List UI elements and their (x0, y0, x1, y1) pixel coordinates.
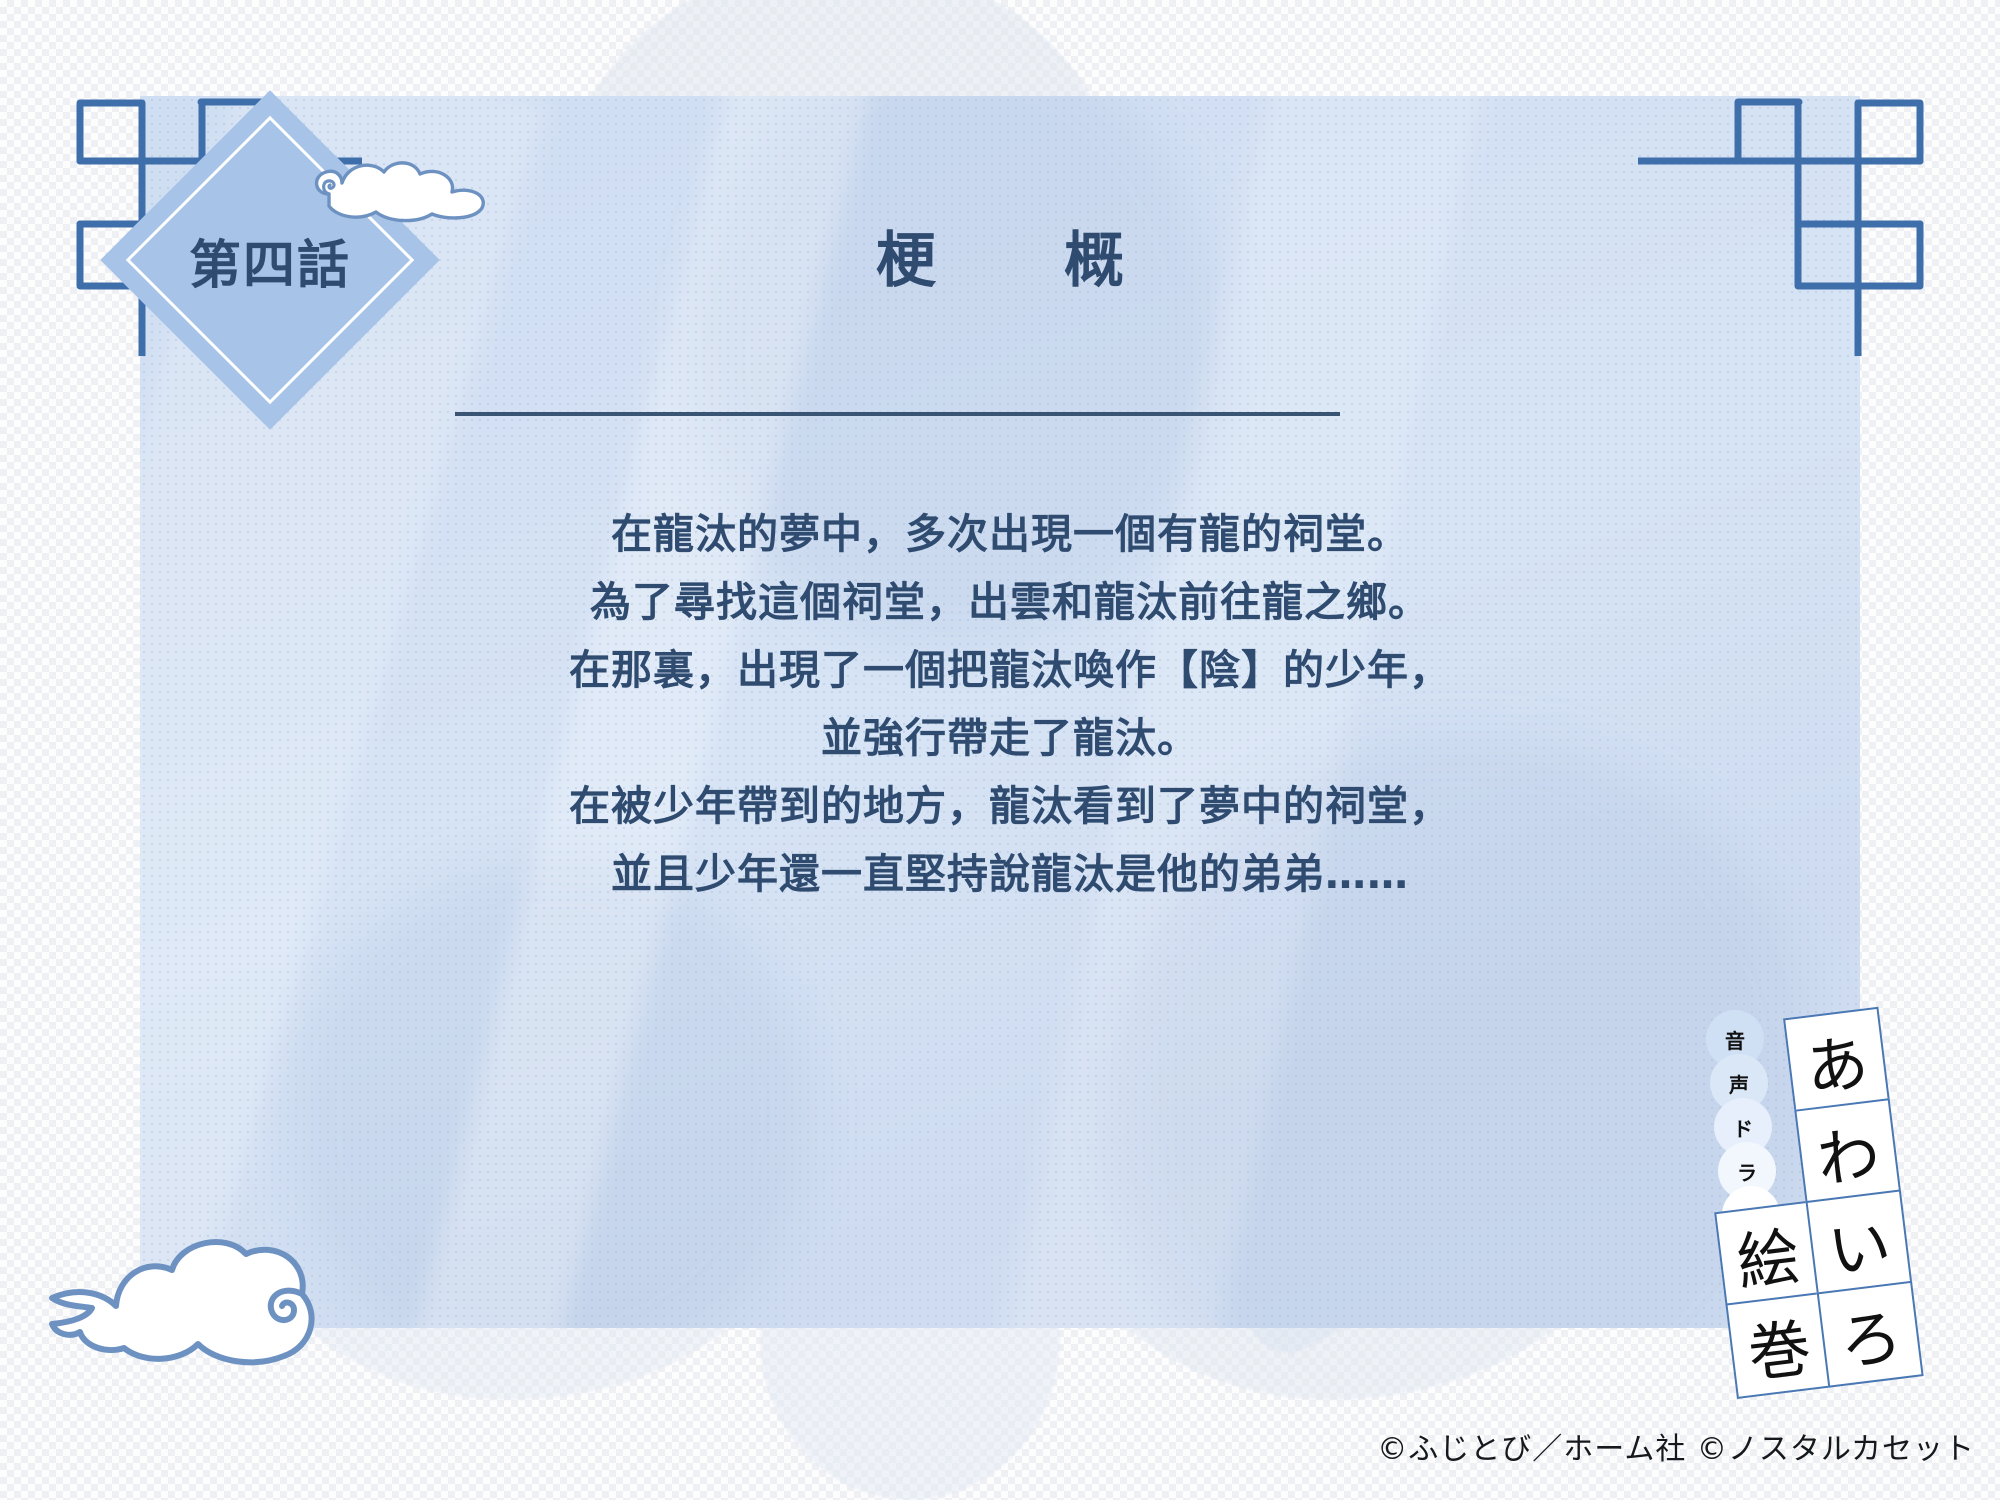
logo-title-cell: 巻 (1725, 1292, 1832, 1399)
synopsis-line: 並且少年還一直堅持說龍汰是他的弟弟…… (300, 840, 1720, 908)
synopsis-line: 在被少年帶到的地方，龍汰看到了夢中的祠堂， (300, 772, 1720, 840)
slide-canvas: 第四話 梗 概 在龍汰的夢中，多次出現一個有龍的祠堂。 為了尋找這個祠堂，出雲和… (0, 0, 2000, 1500)
synopsis-line: 為了尋找這個祠堂，出雲和龍汰前往龍之鄉。 (300, 568, 1720, 636)
title-divider (455, 412, 1340, 416)
program-logo: 音 声 ド ラ マ あ わ 絵 い 巻 ろ (1700, 1010, 1920, 1340)
logo-title-cell: 絵 (1714, 1201, 1821, 1308)
logo-title-grid: あ わ 絵 い 巻 ろ (1694, 1058, 1935, 1352)
logo-title-cell: ろ (1817, 1281, 1924, 1388)
synopsis-text: 在龍汰的夢中，多次出現一個有龍的祠堂。 為了尋找這個祠堂，出雲和龍汰前往龍之鄉。… (300, 500, 1720, 908)
synopsis-line: 在龍汰的夢中，多次出現一個有龍的祠堂。 (300, 500, 1720, 568)
cloud-bottom-icon (40, 1228, 330, 1378)
cloud-top-icon (296, 150, 496, 230)
logo-title-cell: あ (1783, 1007, 1890, 1114)
corner-ornament-icon (1638, 56, 1938, 356)
copyright-notice: ©ふじとび／ホーム社 ©ノスタルカセット (0, 1424, 1975, 1468)
page-title: 梗 概 (620, 212, 1380, 299)
synopsis-line: 並強行帶走了龍汰。 (300, 704, 1720, 772)
logo-title-cell: い (1805, 1189, 1912, 1296)
logo-title-cell: わ (1794, 1098, 1901, 1205)
synopsis-line: 在那裏，出現了一個把龍汰喚作【陰】的少年， (300, 636, 1720, 704)
